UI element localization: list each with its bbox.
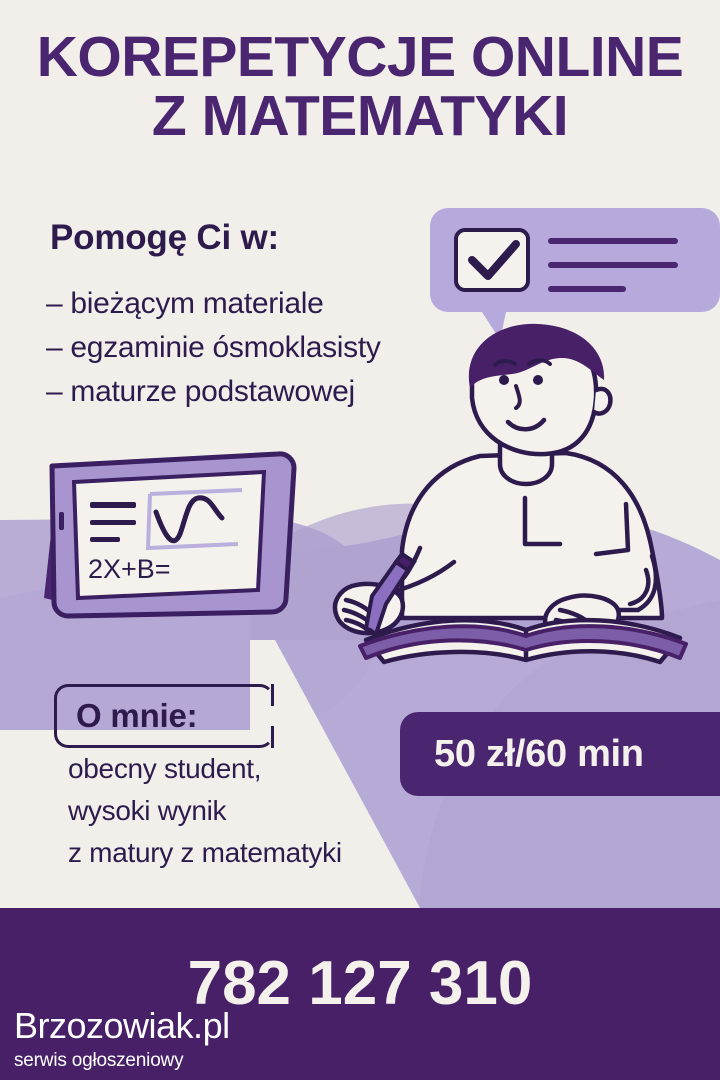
open-book-shape — [360, 620, 686, 662]
student-svg — [330, 318, 720, 668]
eye-right-icon — [533, 375, 543, 385]
bubble-line-1 — [548, 238, 678, 244]
checkbox-icon — [456, 230, 528, 290]
tablet-illustration: 2X+B= — [28, 448, 318, 628]
student-illustration — [330, 318, 720, 668]
help-heading: Pomogę Ci w: — [50, 218, 279, 258]
screen-line-3 — [90, 537, 120, 542]
watermark-site: Brzozowiak.pl — [14, 1008, 230, 1044]
about-me-line: obecny student, — [68, 748, 342, 790]
screen-line-1 — [90, 502, 136, 508]
price-label: 50 zł/60 min — [434, 733, 644, 776]
watermark-tagline: serwis ogłoszeniowy — [14, 1051, 230, 1070]
bubble-line-3 — [548, 286, 626, 292]
bubble-line-2 — [548, 262, 678, 268]
tablet-button-icon — [59, 512, 64, 530]
title-line-2: Z MATEMATYKI — [0, 87, 720, 146]
price-badge: 50 zł/60 min — [400, 712, 720, 796]
about-me-heading: O mnie: — [76, 697, 197, 735]
about-me-line: wysoki wynik — [68, 790, 342, 832]
about-me-line: z matury z matematyki — [68, 832, 342, 874]
poster-root: KOREPETYCJE ONLINE Z MATEMATYKI Pomogę C… — [0, 0, 720, 1080]
eye-left-icon — [499, 375, 509, 385]
title-line-1: KOREPETYCJE ONLINE — [0, 28, 720, 87]
tablet-svg: 2X+B= — [28, 448, 318, 628]
tablet-equation: 2X+B= — [88, 554, 171, 584]
ear-shape — [594, 389, 610, 414]
screen-line-2 — [90, 520, 136, 525]
about-me-body: obecny student, wysoki wynik z matury z … — [68, 748, 342, 874]
page-title: KOREPETYCJE ONLINE Z MATEMATYKI — [0, 28, 720, 145]
watermark: Brzozowiak.pl serwis ogłoszeniowy — [14, 1008, 230, 1070]
